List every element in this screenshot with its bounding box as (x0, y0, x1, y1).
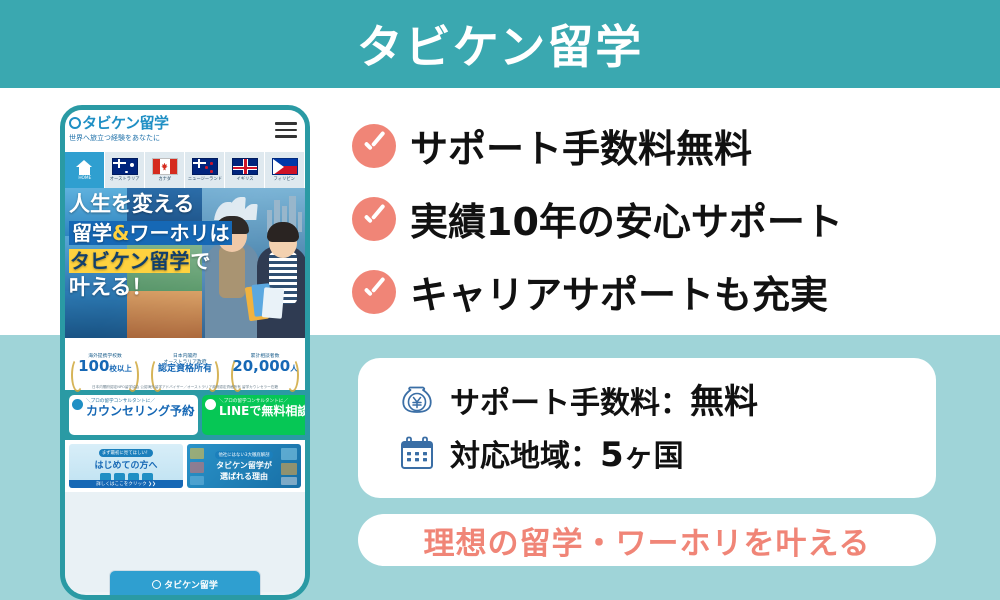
stats-strip: 海外提携学校数 100校以上 日本内閣府 オーストラリア政府 認定資格所有 累計… (65, 338, 305, 390)
cta-row: ＼プロの留学コンサルタントに／ カウンセリング予約 ＼プロの留学コンサルタントに… (65, 390, 305, 440)
nav-label: カナダ (158, 176, 171, 182)
hero-line-3b: で (190, 249, 210, 273)
banner-sub: まず最初に見てほしい！ (99, 449, 153, 457)
checklist-label: サポート手数料無料 (410, 118, 752, 173)
banner-title: はじめての方へ (94, 458, 157, 471)
checklist-label: キャリアサポートも充実 (410, 264, 828, 319)
feature-checklist: サポート手数料無料 実績10年の安心サポート キャリアサポートも充実 (352, 118, 992, 337)
banner-collage (187, 444, 301, 488)
flag-uk-icon (232, 158, 258, 175)
info-suffix: ヶ国 (624, 439, 684, 474)
hero-line-2c: は (209, 221, 229, 245)
info-row-fee: サポート手数料：無料 (396, 374, 936, 423)
floating-brand-tab-label: タビケン留学 (164, 578, 218, 591)
flag-new-zealand-icon (192, 158, 218, 175)
promo-graphic: タビケン留学 タビケン留学 世界へ旅立つ経験をあなたに HOME (0, 0, 1000, 600)
nav-item-uk[interactable]: イギリス (225, 152, 265, 188)
tagline-text: 理想の留学・ワーホリを叶える (423, 518, 870, 563)
country-flag-nav: HOME オーストラリア カナダ ニュージーランド イギリス (65, 152, 305, 188)
phone-lower-area: タビケン留学 (65, 492, 305, 592)
checklist-item: 実績10年の安心サポート (352, 191, 992, 246)
hero-line-4: 叶える！ (69, 277, 152, 298)
info-label: サポート手数料： (450, 386, 690, 421)
floating-brand-tab[interactable]: タビケン留学 (109, 570, 261, 595)
site-header: タビケン留学 世界へ旅立つ経験をあなたに (65, 110, 305, 152)
info-value: 5 (600, 435, 624, 475)
nav-item-home[interactable]: HOME (65, 152, 105, 188)
hero-ampersand: & (112, 221, 129, 245)
stat-consultations: 累計相談者数 20,000人 (225, 354, 305, 375)
nav-item-philippines[interactable]: フィリピン (265, 152, 305, 188)
site-logo-text: タビケン留学 (82, 114, 169, 132)
logo-mark-icon (69, 117, 81, 129)
checklist-label: 実績10年の安心サポート (410, 191, 843, 246)
checklist-item: サポート手数料無料 (352, 118, 992, 173)
hero-line-1: 人生を変える (69, 194, 194, 215)
stats-footnote: 日本内閣府認定NPO留学協会 公認海外留学アドバイザー／オーストラリア政府認定資… (65, 385, 305, 390)
check-circle-icon (352, 270, 396, 314)
brand-dot-icon (152, 580, 161, 589)
cta-label: カウンセリング予約 (86, 404, 194, 418)
site-tagline: 世界へ旅立つ経験をあなたに (69, 133, 305, 143)
tagline-pill: 理想の留学・ワーホリを叶える (358, 514, 936, 566)
hero-line-2a: 留学 (72, 221, 112, 245)
hero-line-2b: ワーホリ (129, 221, 209, 245)
nav-item-canada[interactable]: カナダ (145, 152, 185, 188)
banner-reasons-chosen[interactable]: 他社にはない3大徹底解剖 タビケン留学が 選ばれる理由 (187, 444, 301, 488)
nav-label: オーストラリア (110, 176, 140, 182)
checklist-item: キャリアサポートも充実 (352, 264, 992, 319)
header-bar: タビケン留学 (0, 0, 1000, 88)
check-circle-icon (352, 124, 396, 168)
nav-label: イギリス (236, 176, 253, 182)
banner-row: まず最初に見てほしい！ はじめての方へ 詳しくはここをクリック ❯❯ 他社にはな… (65, 440, 305, 492)
nav-label: HOME (78, 176, 91, 181)
phone-mockup: タビケン留学 世界へ旅立つ経験をあなたに HOME オーストラリア (60, 105, 310, 600)
info-value: 無料 (690, 382, 758, 422)
cta-label: LINEで無料相談 (219, 404, 305, 418)
home-icon (76, 160, 93, 175)
hero-section: 人生を変える 留学&ワーホリは タビケン留学で 叶える！ (65, 188, 305, 338)
flag-canada-icon (152, 158, 178, 175)
person-badge-icon (72, 399, 83, 410)
hamburger-menu-icon[interactable] (275, 122, 297, 142)
stat-certification: 日本内閣府 オーストラリア政府 認定資格所有 (145, 354, 225, 375)
flag-australia-icon (112, 158, 138, 175)
flag-philippines-icon (272, 158, 298, 175)
page-title: タビケン留学 (357, 11, 644, 77)
nav-item-australia[interactable]: オーストラリア (105, 152, 145, 188)
check-circle-icon (352, 197, 396, 241)
hero-line-3a: タビケン留学 (69, 249, 190, 273)
nav-label: ニュージーランド (187, 176, 221, 182)
info-row-regions: 対応地域：5ヶ国 (396, 431, 936, 475)
nav-label: フィリピン (274, 176, 295, 182)
counseling-booking-button[interactable]: ＼プロの留学コンサルタントに／ カウンセリング予約 (69, 395, 198, 435)
banner-beginners[interactable]: まず最初に見てほしい！ はじめての方へ 詳しくはここをクリック ❯❯ (69, 444, 183, 488)
line-consult-button[interactable]: ＼プロの留学コンサルタントに／ LINEで無料相談 (202, 395, 305, 435)
calendar-icon (396, 432, 438, 474)
info-label: 対応地域： (450, 439, 600, 474)
phone-screen: タビケン留学 世界へ旅立つ経験をあなたに HOME オーストラリア (65, 110, 305, 595)
money-bag-icon (396, 378, 438, 420)
line-icon (205, 399, 216, 410)
hero-headline: 人生を変える 留学&ワーホリは タビケン留学で 叶える！ (69, 194, 232, 304)
site-logo[interactable]: タビケン留学 (69, 115, 305, 132)
info-card: サポート手数料：無料 対応地域：5ヶ国 (358, 358, 936, 498)
banner-footer: 詳しくはここをクリック ❯❯ (69, 480, 183, 488)
nav-item-new-zealand[interactable]: ニュージーランド (185, 152, 225, 188)
stat-schools: 海外提携学校数 100校以上 (65, 354, 145, 375)
